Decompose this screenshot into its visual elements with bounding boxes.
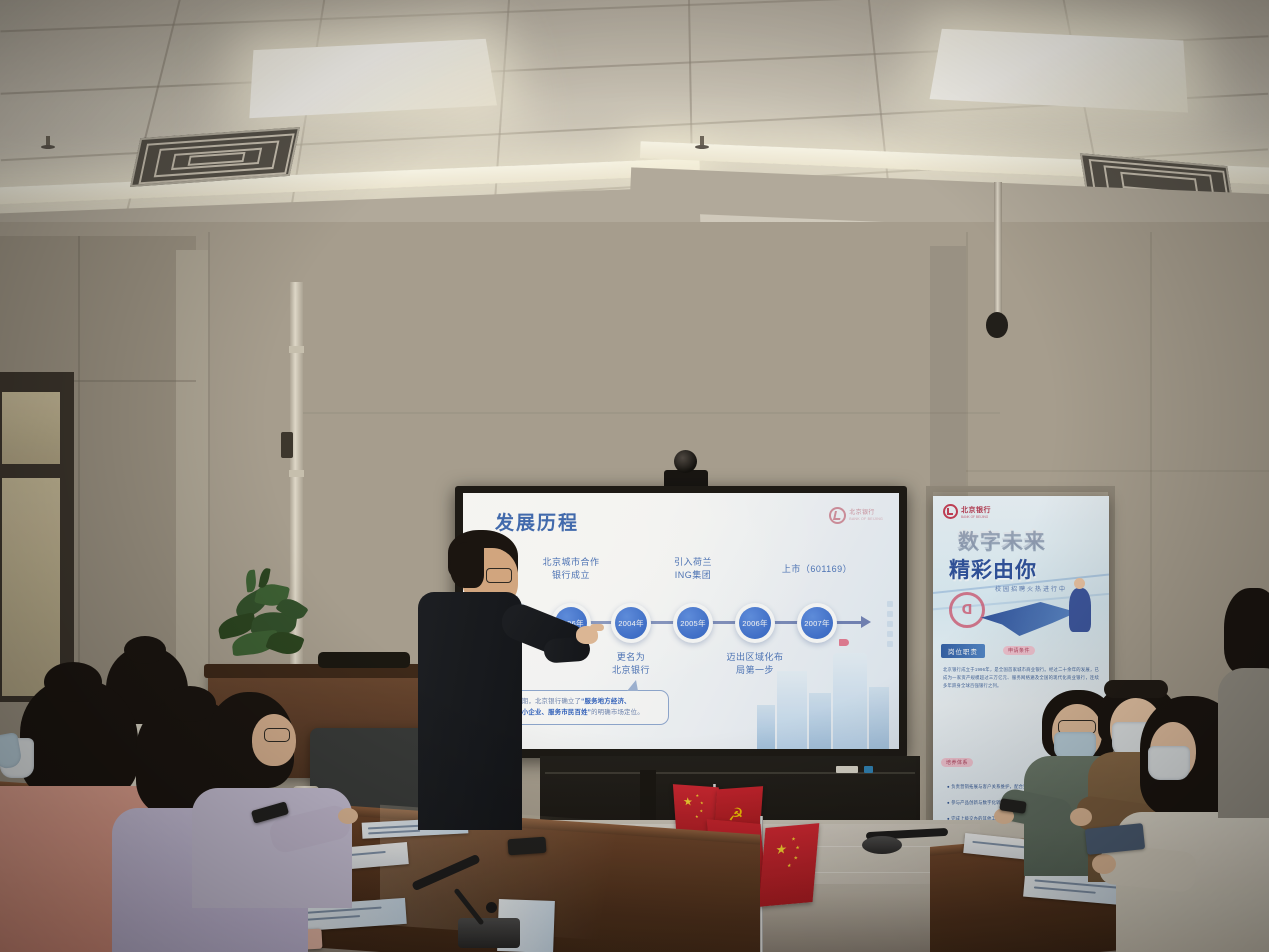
credenza-indicator <box>864 766 873 773</box>
bank-logo-subtitle: BANK OF BEIJING <box>849 517 883 521</box>
skyline-illustration <box>749 629 899 749</box>
flag-star-small: ★ <box>700 801 704 805</box>
timeline-label-2006: 迈出区域化布 局第一步 <box>703 651 807 677</box>
timeline-node-year: 2005年 <box>677 607 709 639</box>
poster-logo-mark <box>943 504 958 519</box>
ceiling-camera <box>986 312 1008 338</box>
slide-dot-decoration <box>887 601 893 647</box>
presenter <box>414 530 604 830</box>
flag-star-large: ★ <box>683 797 694 809</box>
poster-logo-name: 北京银行 <box>961 505 991 515</box>
poster-body-text: 北京银行成立于1996年，是全国首家城市商业银行。经过二十余年的发展，已成为一家… <box>943 666 1099 690</box>
hand <box>338 808 358 824</box>
timeline-node-2007: 2007年 <box>797 603 837 643</box>
hair-bun <box>44 662 102 702</box>
presenter-pointing-finger <box>590 624 604 631</box>
timeline-node-2004: 2004年 <box>611 603 651 643</box>
poster-person-illustration <box>1069 588 1091 632</box>
poster-jet-illustration <box>981 602 1077 636</box>
wall-panel-seam <box>966 470 1269 472</box>
timeline-label-2005: 引入荷兰 ING集团 <box>641 556 745 582</box>
flag-star-small: ★ <box>695 815 699 819</box>
poster-ribbon-duties: 岗位职责 <box>941 644 985 658</box>
face-mask <box>1148 746 1190 780</box>
flag-star-small: ★ <box>793 856 798 861</box>
audience-member-left-5 <box>0 700 110 952</box>
ceiling-light-panel <box>249 39 497 118</box>
door-glass-panel <box>2 478 60 696</box>
poster-badge-training-label: 培养体系 <box>946 760 968 766</box>
poster-headline-1: 数字未来 <box>957 524 1045 554</box>
ceiling-mount-rod <box>994 182 1002 322</box>
wall-panel-seam <box>1150 232 1152 702</box>
eyeglasses <box>264 728 290 742</box>
hair-bun <box>124 636 166 664</box>
wall-panel-seam <box>300 412 1000 414</box>
bank-logo-mark <box>829 507 846 524</box>
poster-badge-training: 培养体系 <box>941 758 973 767</box>
presenter-hair-side <box>450 542 484 588</box>
hand <box>1092 854 1116 874</box>
wall-speaker <box>281 432 293 458</box>
poster-ribbon-duties-label: 岗位职责 <box>948 646 978 656</box>
poster-headline-3: 校园招聘火热进行中 <box>995 584 1067 593</box>
poster-badge-conditions: 申请条件 <box>1003 646 1035 655</box>
ceiling-light-panel <box>930 29 1188 113</box>
microphone-base <box>458 918 520 948</box>
flag-star-small: ★ <box>787 864 792 869</box>
ptz-camera-lens <box>674 450 697 473</box>
item-on-lectern <box>318 652 410 668</box>
poster-badge-conditions-label: 申请条件 <box>1008 648 1030 654</box>
timeline-label-2007: 上市（601169） <box>765 563 869 576</box>
pipe-band <box>289 470 304 477</box>
timeline-arrow-icon <box>861 616 871 628</box>
smartphone-on-table <box>507 837 546 856</box>
wall-panel-seam <box>208 232 210 702</box>
poster-stand-top-bar <box>926 486 1115 492</box>
microphone-joint <box>486 902 497 913</box>
timeline-node-year: 2006年 <box>739 607 771 639</box>
flag-star-small: ★ <box>791 837 796 842</box>
timeline-node-year: 2007年 <box>801 607 833 639</box>
desk-mic-base <box>862 836 902 854</box>
timeline-node-year: 2004年 <box>615 607 647 639</box>
flag-star-small: ★ <box>795 846 800 851</box>
door-glass-panel <box>2 392 60 464</box>
hand <box>1070 808 1092 826</box>
audience-member-left-4 <box>198 692 338 882</box>
bank-logo-name: 北京银行 <box>849 510 883 517</box>
poster-seal-icon: ᗡ <box>949 592 985 628</box>
timeline-node-2006: 2006年 <box>735 603 775 643</box>
hair <box>1224 588 1269 674</box>
meeting-room-photo: 发展历程 北京银行 BANK OF BEIJING <box>0 0 1269 952</box>
torso <box>1218 668 1269 818</box>
flag-star-large: ★ <box>775 842 788 856</box>
flag-star-small: ★ <box>695 794 699 798</box>
china-national-flag: ★ ★ ★ ★ ★ <box>759 823 820 907</box>
audience-member-right-4 <box>1224 588 1269 808</box>
pipe-band <box>289 346 304 353</box>
presenter-glasses <box>486 568 512 583</box>
timeline-node-2005: 2005年 <box>673 603 713 643</box>
poster-headline-2: 精彩由你 <box>949 554 1037 584</box>
poster-bank-logo: 北京银行 BANK OF BEIJING <box>943 504 991 519</box>
face-mask <box>0 732 23 770</box>
poster-logo-subtitle: BANK OF BEIJING <box>961 515 991 519</box>
potted-plant <box>212 566 322 676</box>
credenza-label <box>836 766 858 773</box>
poster-person-head <box>1074 578 1085 589</box>
sprinkler-head <box>46 136 50 149</box>
bank-logo: 北京银行 BANK OF BEIJING <box>829 507 883 524</box>
building-flag-icon <box>839 639 849 646</box>
sprinkler-head <box>700 136 704 149</box>
